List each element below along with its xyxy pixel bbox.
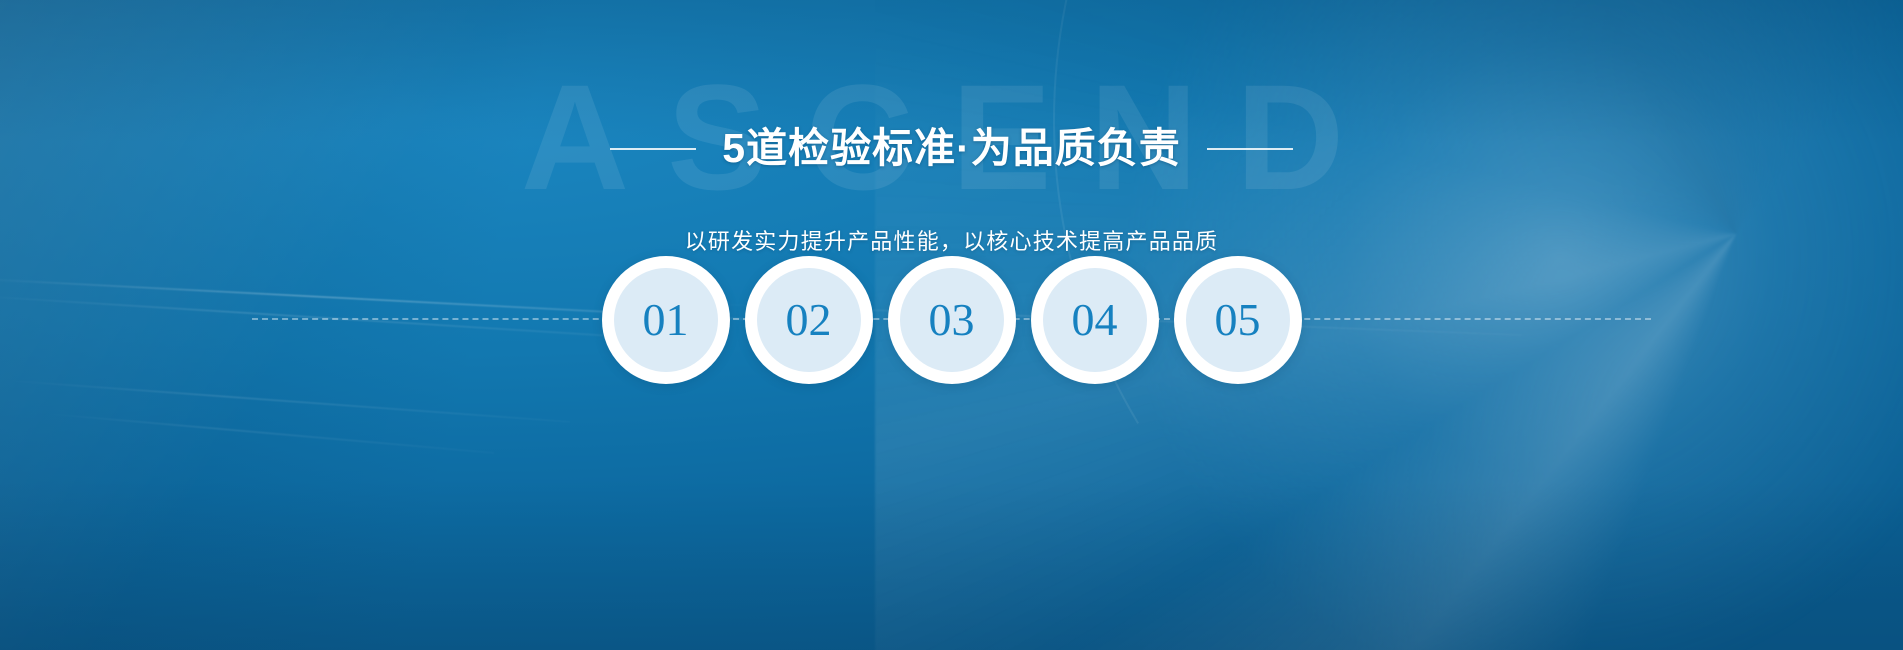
step-circles-row: 01 02 03	[0, 256, 1903, 384]
step-circle-fill: 03	[900, 268, 1004, 372]
step-circle-ring: 02	[745, 256, 873, 384]
step-number: 03	[929, 297, 975, 343]
title-rule-right-icon	[1207, 148, 1293, 150]
step-item-04[interactable]: 04	[1031, 256, 1159, 384]
step-circle-fill: 04	[1043, 268, 1147, 372]
step-circle-ring: 03	[888, 256, 1016, 384]
title-rule-left-icon	[610, 148, 696, 150]
step-circle-fill: 05	[1186, 268, 1290, 372]
process-steps: 01 02 03	[0, 256, 1903, 486]
title-row: 5道检验标准·为品质负责	[0, 96, 1903, 202]
step-number: 04	[1072, 297, 1118, 343]
page-title: 5道检验标准·为品质负责	[722, 123, 1180, 174]
step-circle-fill: 01	[614, 268, 718, 372]
step-number: 05	[1215, 297, 1261, 343]
step-item-05[interactable]: 05	[1174, 256, 1302, 384]
page-subtitle: 以研发实力提升产品性能，以核心技术提高产品品质	[0, 224, 1903, 256]
step-item-02[interactable]: 02	[745, 256, 873, 384]
banner-heading-block: 5道检验标准·为品质负责 以研发实力提升产品性能，以核心技术提高产品品质	[0, 96, 1903, 256]
step-circle-ring: 04	[1031, 256, 1159, 384]
step-circle-ring: 01	[602, 256, 730, 384]
step-number: 02	[786, 297, 832, 343]
quality-standards-banner: ASCEND 5道检验标准·为品质负责 以研发实力提升产品性能，以核心技术提高产…	[0, 0, 1903, 650]
step-item-03[interactable]: 03	[888, 256, 1016, 384]
step-number: 01	[643, 297, 689, 343]
step-circle-ring: 05	[1174, 256, 1302, 384]
step-circle-fill: 02	[757, 268, 861, 372]
step-item-01[interactable]: 01	[602, 256, 730, 384]
